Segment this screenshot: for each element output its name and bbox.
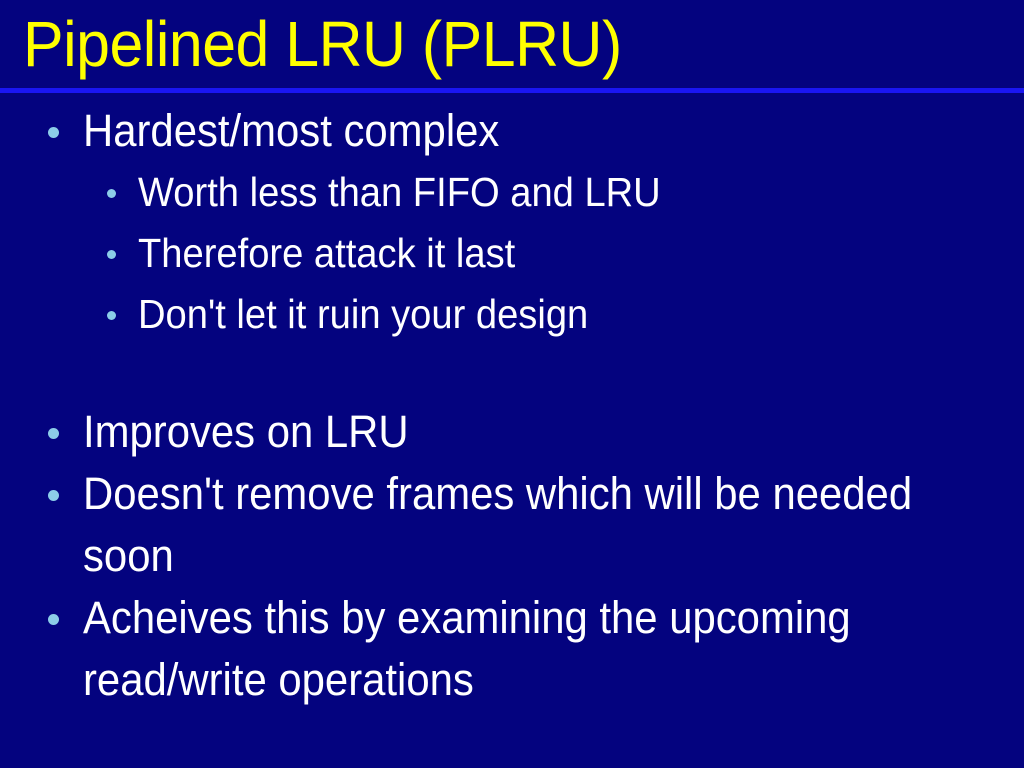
list-item: Don't let it ruin your design [0,284,1024,345]
bullet-group-two: Improves on LRU Doesn't remove frames wh… [0,401,1024,711]
list-item: Acheives this by examining the upcoming … [0,587,1024,711]
presentation-slide: Pipelined LRU (PLRU) Hardest/most comple… [0,0,1024,768]
bullet-dot-icon [107,311,116,320]
list-item-label: Worth less than FIFO and LRU [138,162,962,223]
list-item-label: Don't let it ruin your design [138,284,962,345]
title-divider-rule [0,88,1024,93]
bullet-dot-icon [48,614,59,625]
bullet-dot-icon [48,428,59,439]
bullet-dot-icon [107,189,116,198]
page-title: Pipelined LRU (PLRU) [23,7,622,81]
list-item-label: Improves on LRU [83,401,958,463]
list-item-label: Hardest/most complex [83,100,958,162]
list-item: Hardest/most complex [0,100,1024,162]
bullet-dot-icon [48,490,59,501]
list-item: Improves on LRU [0,401,1024,463]
list-item: Doesn't remove frames which will be need… [0,463,1024,587]
list-item-label: Acheives this by examining the upcoming … [83,587,958,711]
slide-body: Hardest/most complex Worth less than FIF… [0,100,1024,711]
bullet-group-one: Hardest/most complex Worth less than FIF… [0,100,1024,345]
list-item: Worth less than FIFO and LRU [0,162,1024,223]
slide-title-band: Pipelined LRU (PLRU) [0,0,1024,94]
list-item: Therefore attack it last [0,223,1024,284]
bullet-dot-icon [107,250,116,259]
list-item-label: Doesn't remove frames which will be need… [83,463,958,587]
list-item-label: Therefore attack it last [138,223,962,284]
bullet-dot-icon [48,127,59,138]
bullet-group-spacer [0,345,1024,401]
